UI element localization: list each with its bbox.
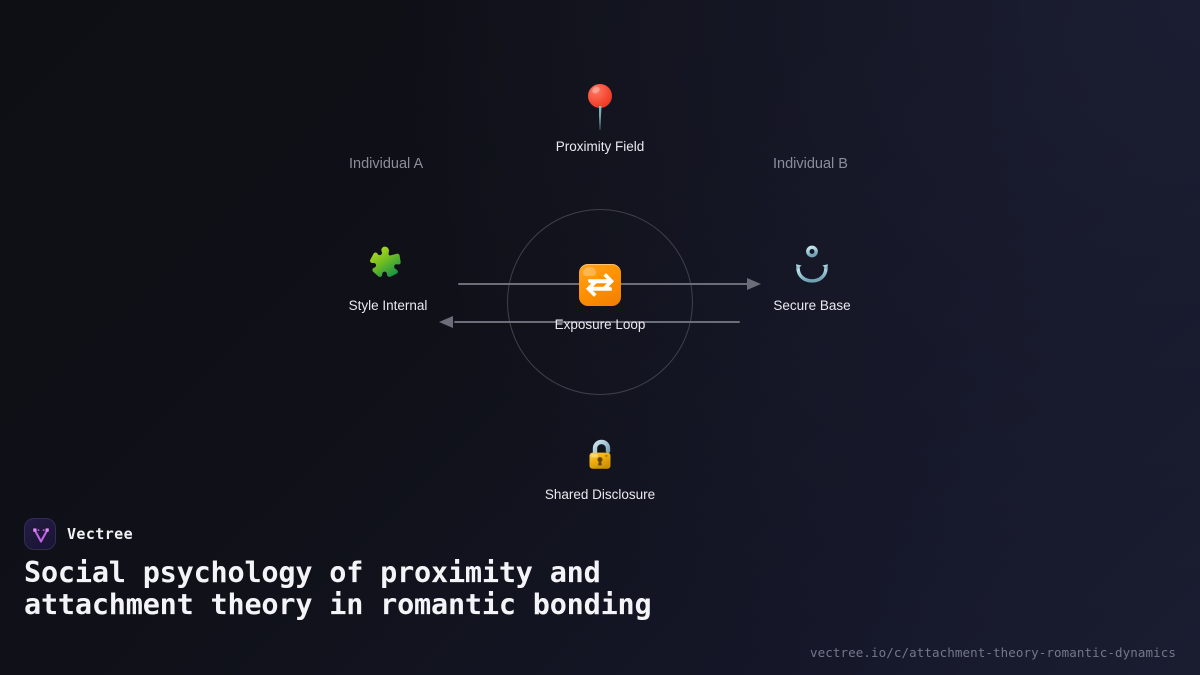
pushpin-icon: [576, 82, 624, 130]
node-shared-disclosure[interactable]: Shared Disclosure: [500, 430, 700, 503]
node-proximity-field[interactable]: Proximity Field: [500, 82, 700, 155]
open-padlock-icon: [576, 430, 624, 478]
node-label: Style Internal: [349, 298, 428, 314]
permalink-url[interactable]: vectree.io/c/attachment-theory-romantic-…: [810, 645, 1176, 660]
caption-individual-b: Individual B: [773, 156, 848, 172]
page-title: Social psychology of proximity and attac…: [24, 557, 774, 621]
puzzle-piece-icon: [364, 241, 412, 289]
repeat-icon: [576, 261, 624, 309]
node-label: Proximity Field: [556, 139, 645, 155]
vectree-logo-icon: [24, 518, 56, 550]
pushpin-needle: [599, 106, 602, 130]
node-label: Secure Base: [773, 298, 850, 314]
node-label: Exposure Loop: [555, 317, 646, 333]
caption-individual-a: Individual A: [349, 156, 423, 172]
node-label: Shared Disclosure: [545, 487, 655, 503]
footer: Vectree Social psychology of proximity a…: [0, 505, 1200, 675]
node-exposure-loop[interactable]: Exposure Loop: [500, 261, 700, 333]
brand: Vectree: [24, 518, 133, 550]
pushpin-head: [588, 84, 612, 108]
node-style-internal[interactable]: Style Internal: [288, 241, 488, 314]
arrowhead-left-icon: [439, 316, 453, 328]
diagram-canvas: Individual A Individual B Proximity Fiel…: [0, 0, 1200, 515]
anchor-icon: [788, 241, 836, 289]
node-secure-base[interactable]: Secure Base: [712, 241, 912, 314]
brand-name: Vectree: [67, 525, 133, 543]
